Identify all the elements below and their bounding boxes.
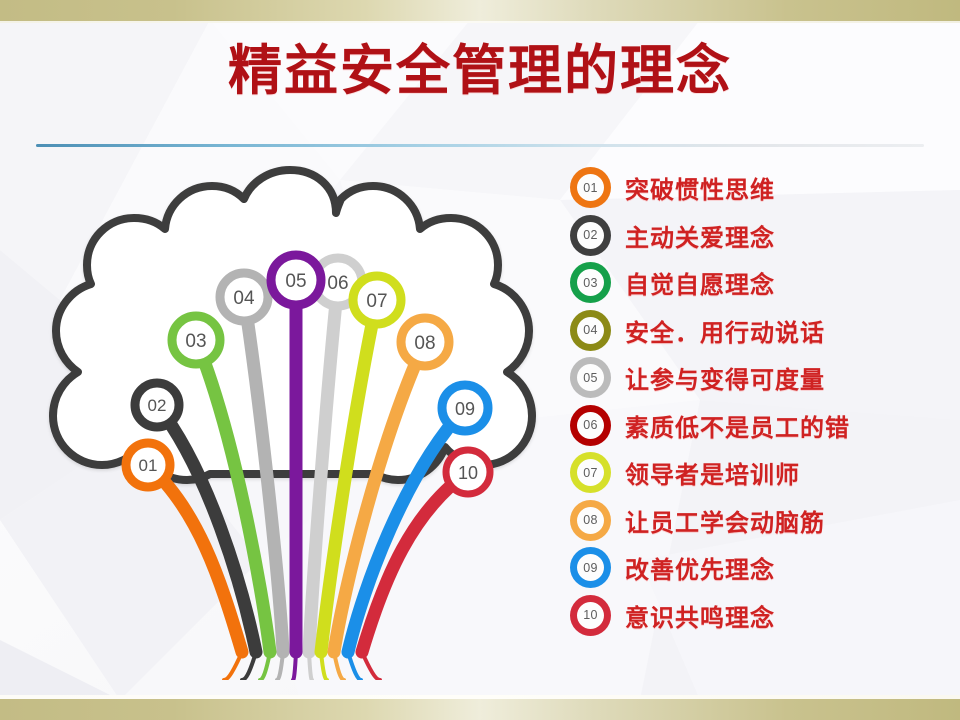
legend-label-03: 自觉自愿理念 xyxy=(625,265,775,300)
legend-item-07[interactable]: 07 领导者是培训师 xyxy=(570,449,950,497)
legend-item-03[interactable]: 03 自觉自愿理念 xyxy=(570,259,950,307)
legend-badge-09: 09 xyxy=(570,547,611,588)
svg-text:08: 08 xyxy=(414,333,435,354)
cloud-fan-diagram: 01 02 03 04 06 05 07 08 xyxy=(20,160,565,680)
legend-item-04[interactable]: 04 安全．用行动说话 xyxy=(570,307,950,355)
legend-item-06[interactable]: 06 素质低不是员工的错 xyxy=(570,402,950,450)
top-decorative-band xyxy=(0,0,960,21)
node-09[interactable]: 09 xyxy=(442,385,488,431)
legend-badge-03: 03 xyxy=(570,262,611,303)
svg-text:03: 03 xyxy=(185,331,206,352)
legend-number-03: 03 xyxy=(577,269,604,296)
page-title: 精益安全管理的理念 xyxy=(0,40,960,102)
slide-canvas: 精益安全管理的理念 xyxy=(0,0,960,720)
legend-badge-06: 06 xyxy=(570,405,611,446)
legend-number-01: 01 xyxy=(577,174,604,201)
legend-label-09: 改善优先理念 xyxy=(625,550,775,585)
legend-number-04: 04 xyxy=(577,317,604,344)
node-02[interactable]: 02 xyxy=(135,383,179,427)
legend-item-10[interactable]: 10 意识共鸣理念 xyxy=(570,592,950,640)
node-03[interactable]: 03 xyxy=(172,316,220,364)
legend-item-05[interactable]: 05 让参与变得可度量 xyxy=(570,354,950,402)
legend-number-02: 02 xyxy=(577,222,604,249)
legend-label-06: 素质低不是员工的错 xyxy=(625,408,850,443)
legend-badge-07: 07 xyxy=(570,452,611,493)
svg-text:06: 06 xyxy=(327,273,348,294)
legend-number-07: 07 xyxy=(577,459,604,486)
legend-list: 01 突破惯性思维 02 主动关爱理念 03 自觉自愿理念 04 安全．用行动说… xyxy=(570,164,950,639)
svg-text:02: 02 xyxy=(148,396,167,415)
legend-badge-04: 04 xyxy=(570,310,611,351)
legend-item-08[interactable]: 08 让员工学会动脑筋 xyxy=(570,497,950,545)
legend-badge-10: 10 xyxy=(570,595,611,636)
legend-label-08: 让员工学会动脑筋 xyxy=(625,503,825,538)
svg-text:07: 07 xyxy=(366,291,387,312)
top-band-highlight xyxy=(0,21,960,23)
bottom-decorative-band xyxy=(0,699,960,720)
legend-label-04: 安全．用行动说话 xyxy=(625,313,825,348)
legend-label-02: 主动关爱理念 xyxy=(625,218,775,253)
legend-badge-02: 02 xyxy=(570,215,611,256)
legend-badge-01: 01 xyxy=(570,167,611,208)
stem-05 xyxy=(294,280,296,652)
legend-number-10: 10 xyxy=(577,602,604,629)
node-07[interactable]: 07 xyxy=(353,276,401,324)
legend-number-08: 08 xyxy=(577,507,604,534)
node-08[interactable]: 08 xyxy=(401,318,449,366)
legend-number-05: 05 xyxy=(577,364,604,391)
legend-label-05: 让参与变得可度量 xyxy=(625,360,825,395)
title-underline-rule xyxy=(36,144,924,147)
legend-number-09: 09 xyxy=(577,554,604,581)
svg-text:10: 10 xyxy=(458,463,478,483)
node-05[interactable]: 05 xyxy=(271,255,321,305)
node-10[interactable]: 10 xyxy=(446,450,490,494)
legend-label-10: 意识共鸣理念 xyxy=(625,598,775,633)
legend-label-01: 突破惯性思维 xyxy=(625,170,775,205)
legend-item-01[interactable]: 01 突破惯性思维 xyxy=(570,164,950,212)
legend-item-09[interactable]: 09 改善优先理念 xyxy=(570,544,950,592)
legend-badge-08: 08 xyxy=(570,500,611,541)
svg-text:04: 04 xyxy=(233,288,255,309)
legend-number-06: 06 xyxy=(577,412,604,439)
legend-label-07: 领导者是培训师 xyxy=(625,455,800,490)
svg-text:01: 01 xyxy=(139,456,158,475)
legend-item-02[interactable]: 02 主动关爱理念 xyxy=(570,212,950,260)
node-01[interactable]: 01 xyxy=(126,443,170,487)
svg-text:05: 05 xyxy=(285,271,306,292)
node-04[interactable]: 04 xyxy=(220,273,268,321)
svg-text:09: 09 xyxy=(455,399,475,419)
legend-badge-05: 05 xyxy=(570,357,611,398)
stem-tips xyxy=(224,652,380,680)
